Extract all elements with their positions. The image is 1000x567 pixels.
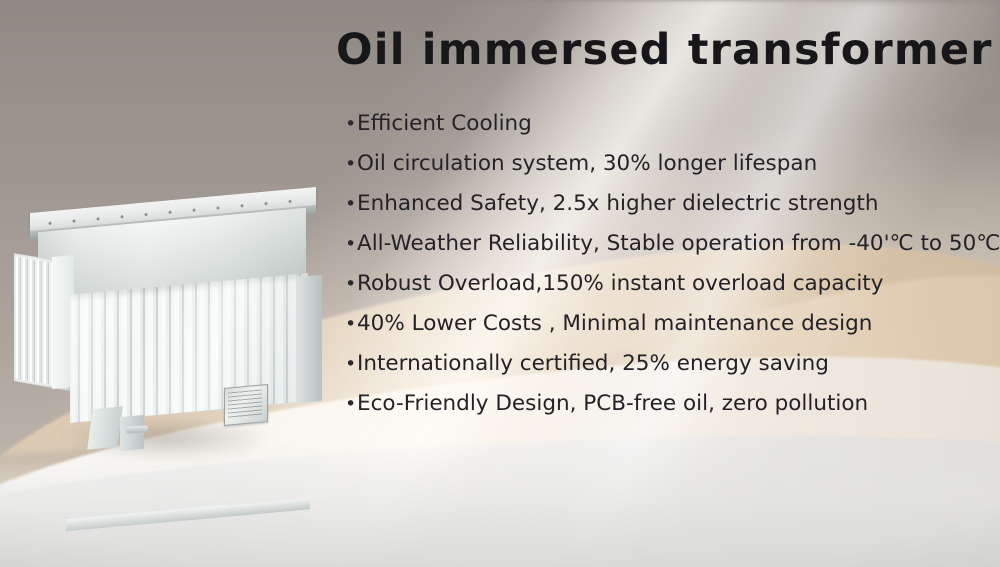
bullet-marker-icon: • — [345, 344, 357, 384]
list-item: • Oil circulation system, 30% longer lif… — [345, 144, 1000, 184]
feature-text: Eco-Friendly Design, PCB-free oil, zero … — [357, 384, 868, 424]
list-item: • Robust Overload,150% instant overload … — [345, 264, 1000, 304]
bullet-marker-icon: • — [345, 304, 357, 344]
bullet-marker-icon: • — [345, 144, 357, 184]
feature-text: Efficient Cooling — [357, 104, 532, 144]
left-radiator-fins — [16, 257, 54, 386]
list-item: • All-Weather Reliability, Stable operat… — [345, 224, 1000, 264]
transformer-product-image — [8, 108, 338, 458]
feature-text: Oil circulation system, 30% longer lifes… — [357, 144, 817, 184]
right-end-panel — [296, 275, 322, 403]
feature-text: Robust Overload,150% instant overload ca… — [357, 264, 883, 304]
bullet-marker-icon: • — [345, 104, 357, 144]
feature-text: Internationally certified, 25% energy sa… — [357, 344, 829, 384]
product-drop-shadow — [16, 408, 316, 468]
base-support-left — [87, 406, 123, 449]
feature-text: All-Weather Reliability, Stable operatio… — [357, 224, 1000, 264]
list-item: • 40% Lower Costs , Minimal maintenance … — [345, 304, 1000, 344]
product-banner: Oil immersed transformer • Efficient Coo… — [0, 0, 1000, 567]
feature-text: Enhanced Safety, 2.5x higher dielectric … — [357, 184, 878, 224]
list-item: • Internationally certified, 25% energy … — [345, 344, 1000, 384]
list-item: • Eco-Friendly Design, PCB-free oil, zer… — [345, 384, 1000, 424]
bullet-marker-icon: • — [345, 224, 357, 264]
bullet-marker-icon: • — [345, 384, 357, 424]
bullet-marker-icon: • — [345, 184, 357, 224]
feature-text: 40% Lower Costs , Minimal maintenance de… — [357, 304, 872, 344]
bullet-marker-icon: • — [345, 264, 357, 304]
radiator-highlight — [70, 273, 308, 423]
feature-list: • Efficient Cooling • Oil circulation sy… — [345, 104, 1000, 424]
page-title: Oil immersed transformer — [336, 26, 986, 74]
list-item: • Efficient Cooling — [345, 104, 1000, 144]
nameplate-text-lines — [228, 389, 262, 418]
list-item: • Enhanced Safety, 2.5x higher dielectri… — [345, 184, 1000, 224]
